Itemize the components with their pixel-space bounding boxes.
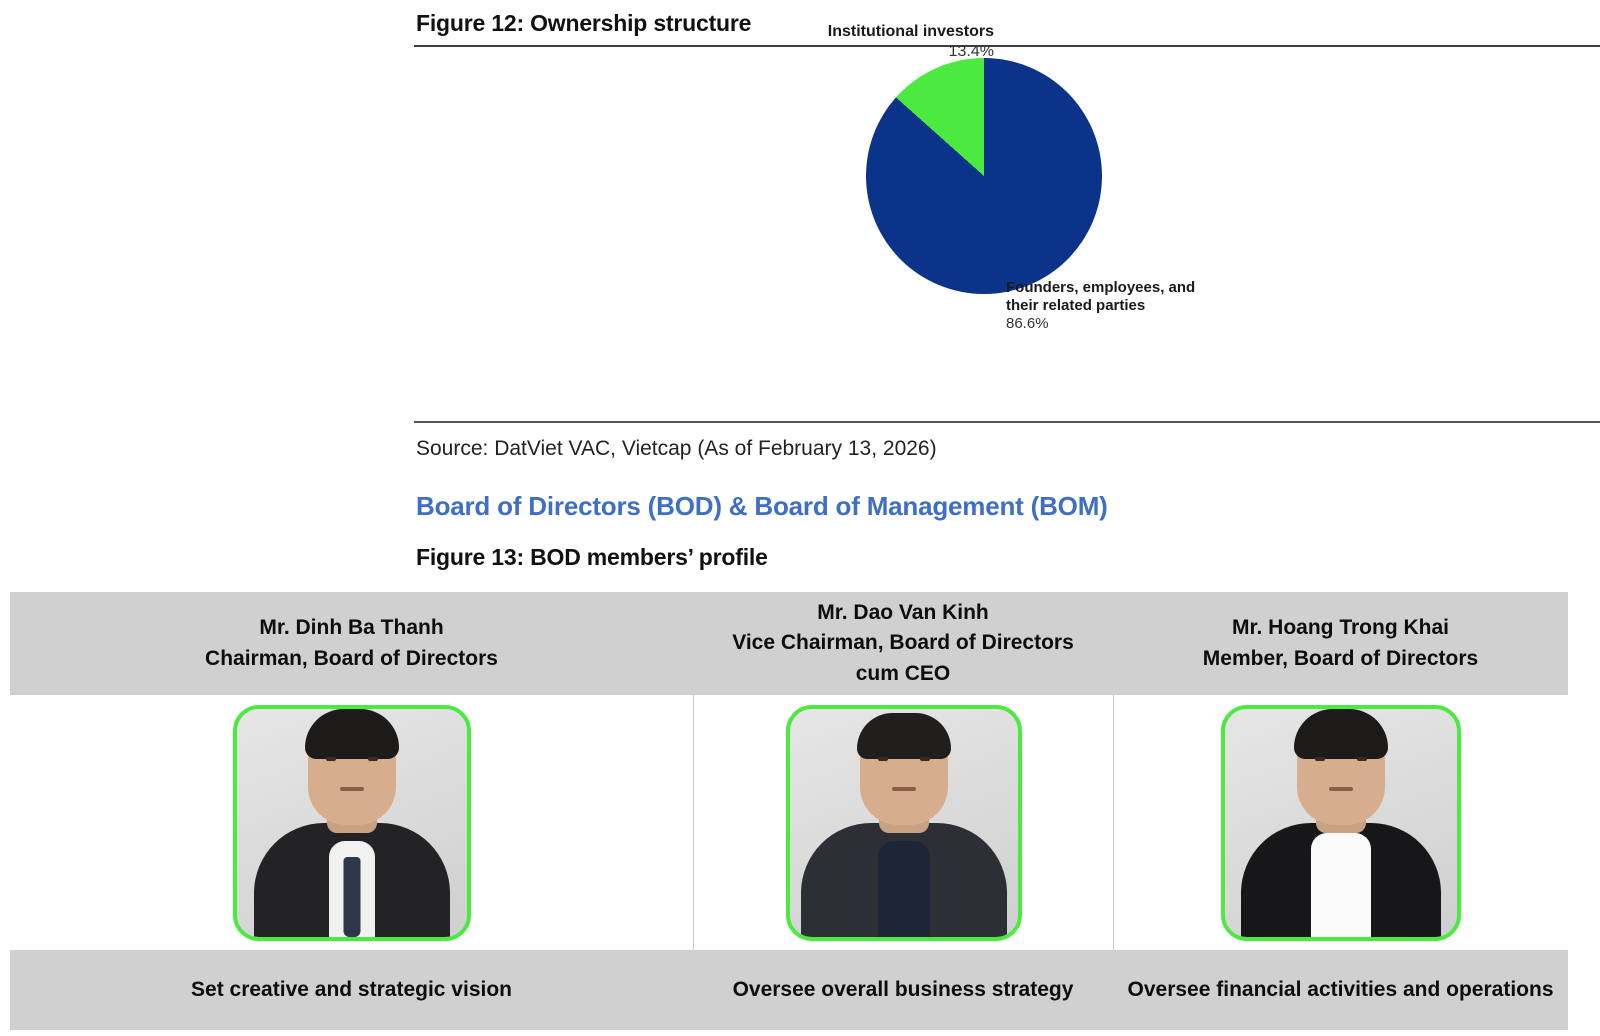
member-2-role: Vice Chairman, Board of Directors: [732, 628, 1074, 658]
member-2-name: Mr. Dao Van Kinh: [732, 598, 1074, 628]
bod-photo-cell-3: [1113, 695, 1568, 950]
section-heading-bod-bom: Board of Directors (BOD) & Board of Mana…: [414, 471, 1600, 528]
portrait-mouth: [1329, 787, 1353, 791]
portrait-hoang-trong-khai: [1221, 705, 1461, 941]
portrait-eye-left: [326, 757, 336, 761]
member-3-identity: Mr. Hoang Trong Khai Member, Board of Di…: [1203, 613, 1478, 674]
portrait-hair: [857, 713, 951, 759]
bod-header-cell-3: Mr. Hoang Trong Khai Member, Board of Di…: [1113, 592, 1568, 695]
bod-table-header-row: Mr. Dinh Ba Thanh Chairman, Board of Dir…: [10, 592, 1568, 695]
figure-12-title: Figure 12: Ownership structure: [414, 0, 1600, 45]
portrait-dinh-ba-thanh: [233, 705, 471, 941]
portrait-eye-left: [1315, 757, 1325, 761]
pie-label-founders-value: 86.6%: [1006, 315, 1306, 333]
portrait-dao-van-kinh: [786, 705, 1022, 941]
member-3-caption: Oversee financial activities and operati…: [1128, 975, 1554, 1005]
portrait-shirt: [878, 841, 930, 937]
member-3-role: Member, Board of Directors: [1203, 644, 1478, 674]
member-2-role-2: cum CEO: [732, 659, 1074, 689]
member-2-caption: Oversee overall business strategy: [733, 975, 1074, 1005]
pie-label-founders-line2: their related parties: [1006, 297, 1306, 315]
member-1-name: Mr. Dinh Ba Thanh: [205, 613, 498, 643]
portrait-mouth: [340, 787, 364, 791]
member-1-caption: Set creative and strategic vision: [191, 975, 512, 1005]
portrait-tie: [343, 857, 360, 937]
portrait-mouth: [892, 787, 916, 791]
bod-table-photo-row: [10, 695, 1568, 950]
pie-label-founders: Founders, employees, and their related p…: [1006, 279, 1306, 333]
bod-caption-cell-1: Set creative and strategic vision: [10, 950, 693, 1030]
portrait-eye-right: [1357, 757, 1367, 761]
pie-label-institutional: Institutional investors 13.4%: [744, 22, 994, 61]
pie-label-founders-line1: Founders, employees, and: [1006, 279, 1306, 297]
figure-13-title: Figure 13: BOD members’ profile: [414, 528, 1600, 579]
bod-header-cell-1: Mr. Dinh Ba Thanh Chairman, Board of Dir…: [10, 592, 693, 695]
bod-caption-cell-3: Oversee financial activities and operati…: [1113, 950, 1568, 1030]
member-1-identity: Mr. Dinh Ba Thanh Chairman, Board of Dir…: [205, 613, 498, 674]
bod-photo-cell-2: [693, 695, 1113, 950]
portrait-shirt: [1311, 833, 1371, 937]
member-1-role: Chairman, Board of Directors: [205, 644, 498, 674]
bod-caption-cell-2: Oversee overall business strategy: [693, 950, 1113, 1030]
portrait-eye-right: [368, 757, 378, 761]
ownership-pie-chart: Institutional investors 13.4% Founders, …: [414, 47, 1600, 421]
member-2-identity: Mr. Dao Van Kinh Vice Chairman, Board of…: [732, 598, 1074, 689]
member-3-name: Mr. Hoang Trong Khai: [1203, 613, 1478, 643]
bod-header-cell-2: Mr. Dao Van Kinh Vice Chairman, Board of…: [693, 592, 1113, 695]
figure-12-block: Figure 12: Ownership structure Instituti…: [414, 0, 1600, 579]
figure-12-source: Source: DatViet VAC, Vietcap (As of Febr…: [414, 423, 1600, 471]
portrait-eye-right: [920, 757, 930, 761]
pie-holder: [866, 58, 1102, 294]
portrait-eye-left: [878, 757, 888, 761]
bod-photo-cell-1: [10, 695, 693, 950]
pie-slices: [866, 58, 1102, 294]
bod-table-caption-row: Set creative and strategic vision Overse…: [10, 950, 1568, 1030]
bod-members-table: Mr. Dinh Ba Thanh Chairman, Board of Dir…: [10, 592, 1568, 1030]
pie-label-institutional-text: Institutional investors: [744, 22, 994, 42]
